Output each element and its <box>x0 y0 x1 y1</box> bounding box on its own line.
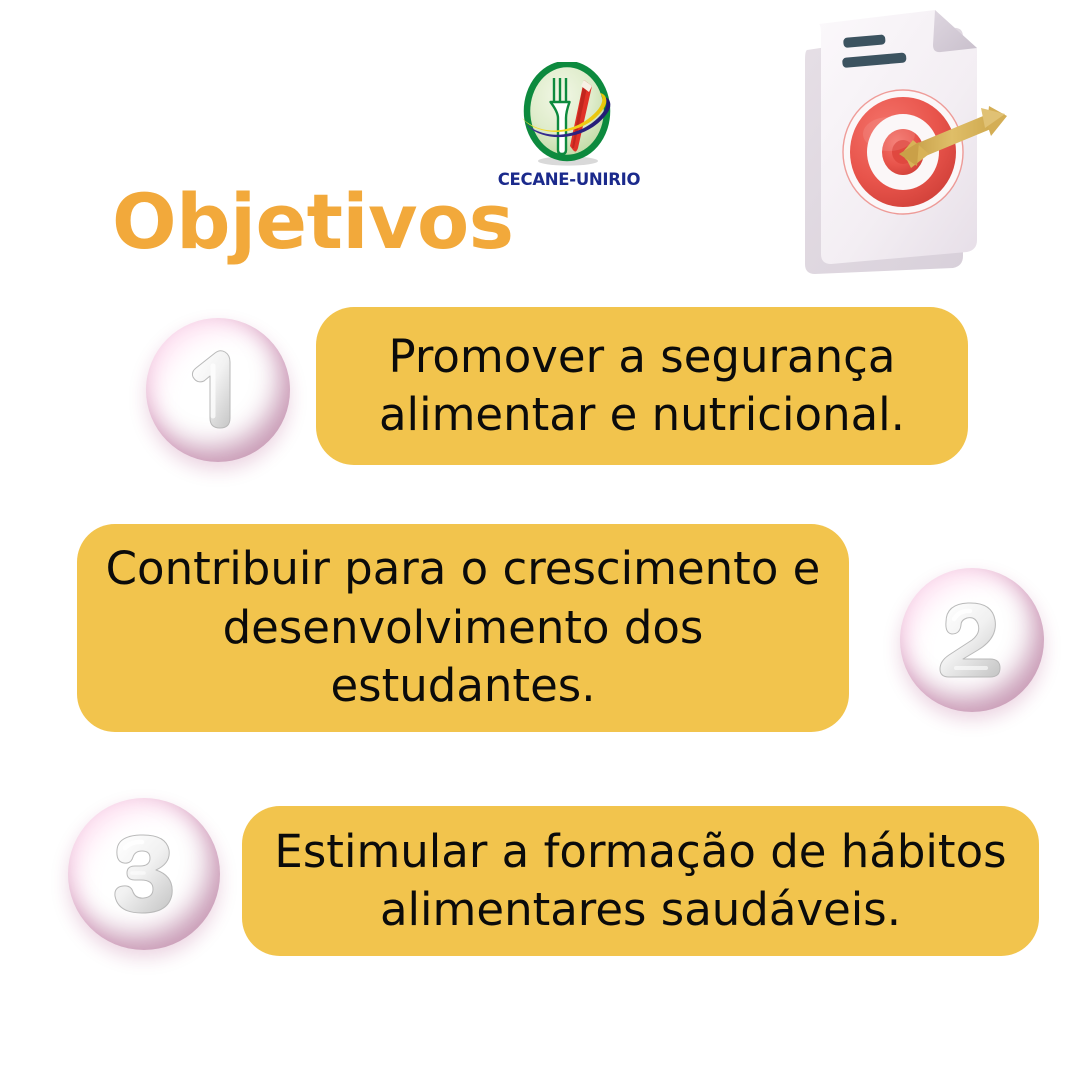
target-document-arrow-icon <box>785 2 1075 292</box>
objective-text-3: Estimular a formação de hábitos alimenta… <box>268 823 1013 940</box>
objective-number-badge-1 <box>146 318 290 462</box>
objective-text-2: Contribuir para o crescimento e desenvol… <box>103 540 823 716</box>
numeral-2-icon <box>930 594 1014 686</box>
cecane-unirio-logo-icon <box>512 62 624 167</box>
objective-text-1: Promover a segurança alimentar e nutrici… <box>342 328 942 445</box>
objective-box-1: Promover a segurança alimentar e nutrici… <box>316 307 968 465</box>
cecane-unirio-logo: CECANE-UNIRIO <box>489 62 649 197</box>
objective-number-badge-3 <box>68 798 220 950</box>
numeral-3-icon <box>102 826 186 922</box>
numeral-1-icon <box>179 344 257 436</box>
page-title: Objetivos <box>112 184 513 260</box>
objective-box-3: Estimular a formação de hábitos alimenta… <box>242 806 1039 956</box>
objective-box-2: Contribuir para o crescimento e desenvol… <box>77 524 849 732</box>
objective-number-badge-2 <box>900 568 1044 712</box>
objectives-slide: CECANE-UNIRIO <box>0 0 1080 1080</box>
